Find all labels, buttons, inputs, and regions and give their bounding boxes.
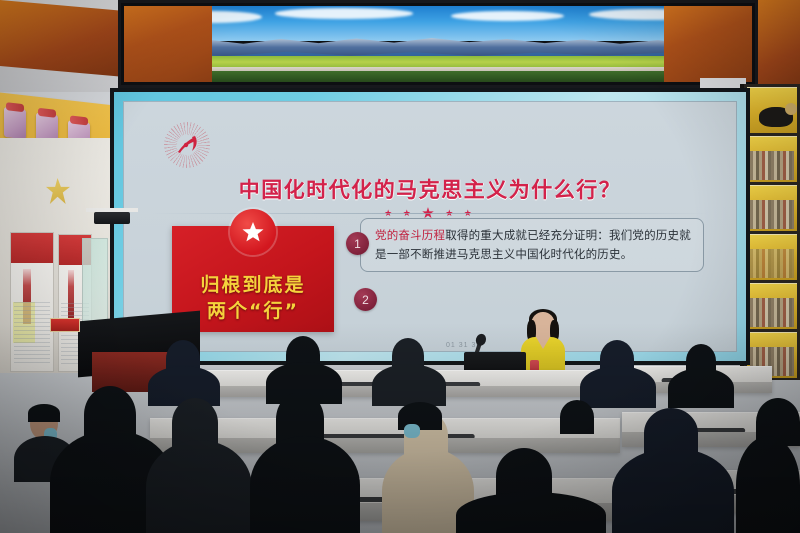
attendee <box>456 492 606 533</box>
ceiling-projector <box>94 212 130 224</box>
bullet-1-highlight: 党的奋斗历程 <box>375 228 445 242</box>
lecture-hall-screenshot: 中国化时代化的马克思主义为什么行？ ★ ★ ★ ★ ★ 归根到底是 两个“行” <box>0 0 800 533</box>
display-case-1 <box>10 232 54 372</box>
bullet-number-2: 2 <box>354 288 377 311</box>
slide-title: 中国化时代化的马克思主义为什么行？ <box>124 174 736 204</box>
banner-left-canyon <box>124 6 212 82</box>
left-canyon-wall-panel <box>0 0 118 76</box>
attendee <box>250 436 360 533</box>
screen-frame: 中国化时代化的马克思主义为什么行？ ★ ★ ★ ★ ★ 归根到底是 两个“行” <box>114 92 746 361</box>
hammer-and-sickle-icon <box>164 122 210 168</box>
led-banner <box>118 0 758 88</box>
attendee <box>560 400 594 434</box>
shelf-row <box>747 283 797 329</box>
banner-treeline <box>124 71 752 82</box>
shelf-row <box>747 87 797 133</box>
bullet-1-callout: 党的奋斗历程取得的重大成就已经充分证明：我们党的历史就是一部不断推进马克思主义中… <box>360 218 704 272</box>
attendee <box>146 440 252 533</box>
shelf-row <box>747 234 797 280</box>
star-badge-icon <box>230 209 276 255</box>
shelf-row <box>747 136 797 182</box>
attendee-hair <box>28 404 60 422</box>
red-wall-sign <box>50 318 80 332</box>
face-mask <box>404 424 420 438</box>
banner-right-canyon <box>664 6 752 82</box>
attendee <box>372 364 446 406</box>
right-canyon-wall-panel <box>756 0 800 96</box>
yak-figurine-icon <box>759 107 793 127</box>
attendee <box>736 436 800 533</box>
projection-screen: 中国化时代化的马克思主义为什么行？ ★ ★ ★ ★ ★ 归根到底是 两个“行” <box>110 88 750 365</box>
bullet-number-1: 1 <box>346 232 369 255</box>
led-banner-image <box>124 6 752 82</box>
attendee <box>612 448 734 533</box>
shelf-row <box>747 185 797 231</box>
key-message-line1: 归根到底是 <box>172 270 334 297</box>
attendee <box>668 368 734 408</box>
title-underline <box>152 213 708 214</box>
presentation-slide: 中国化时代化的马克思主义为什么行？ ★ ★ ★ ★ ★ 归根到底是 两个“行” <box>123 101 737 352</box>
attendee <box>580 366 656 408</box>
